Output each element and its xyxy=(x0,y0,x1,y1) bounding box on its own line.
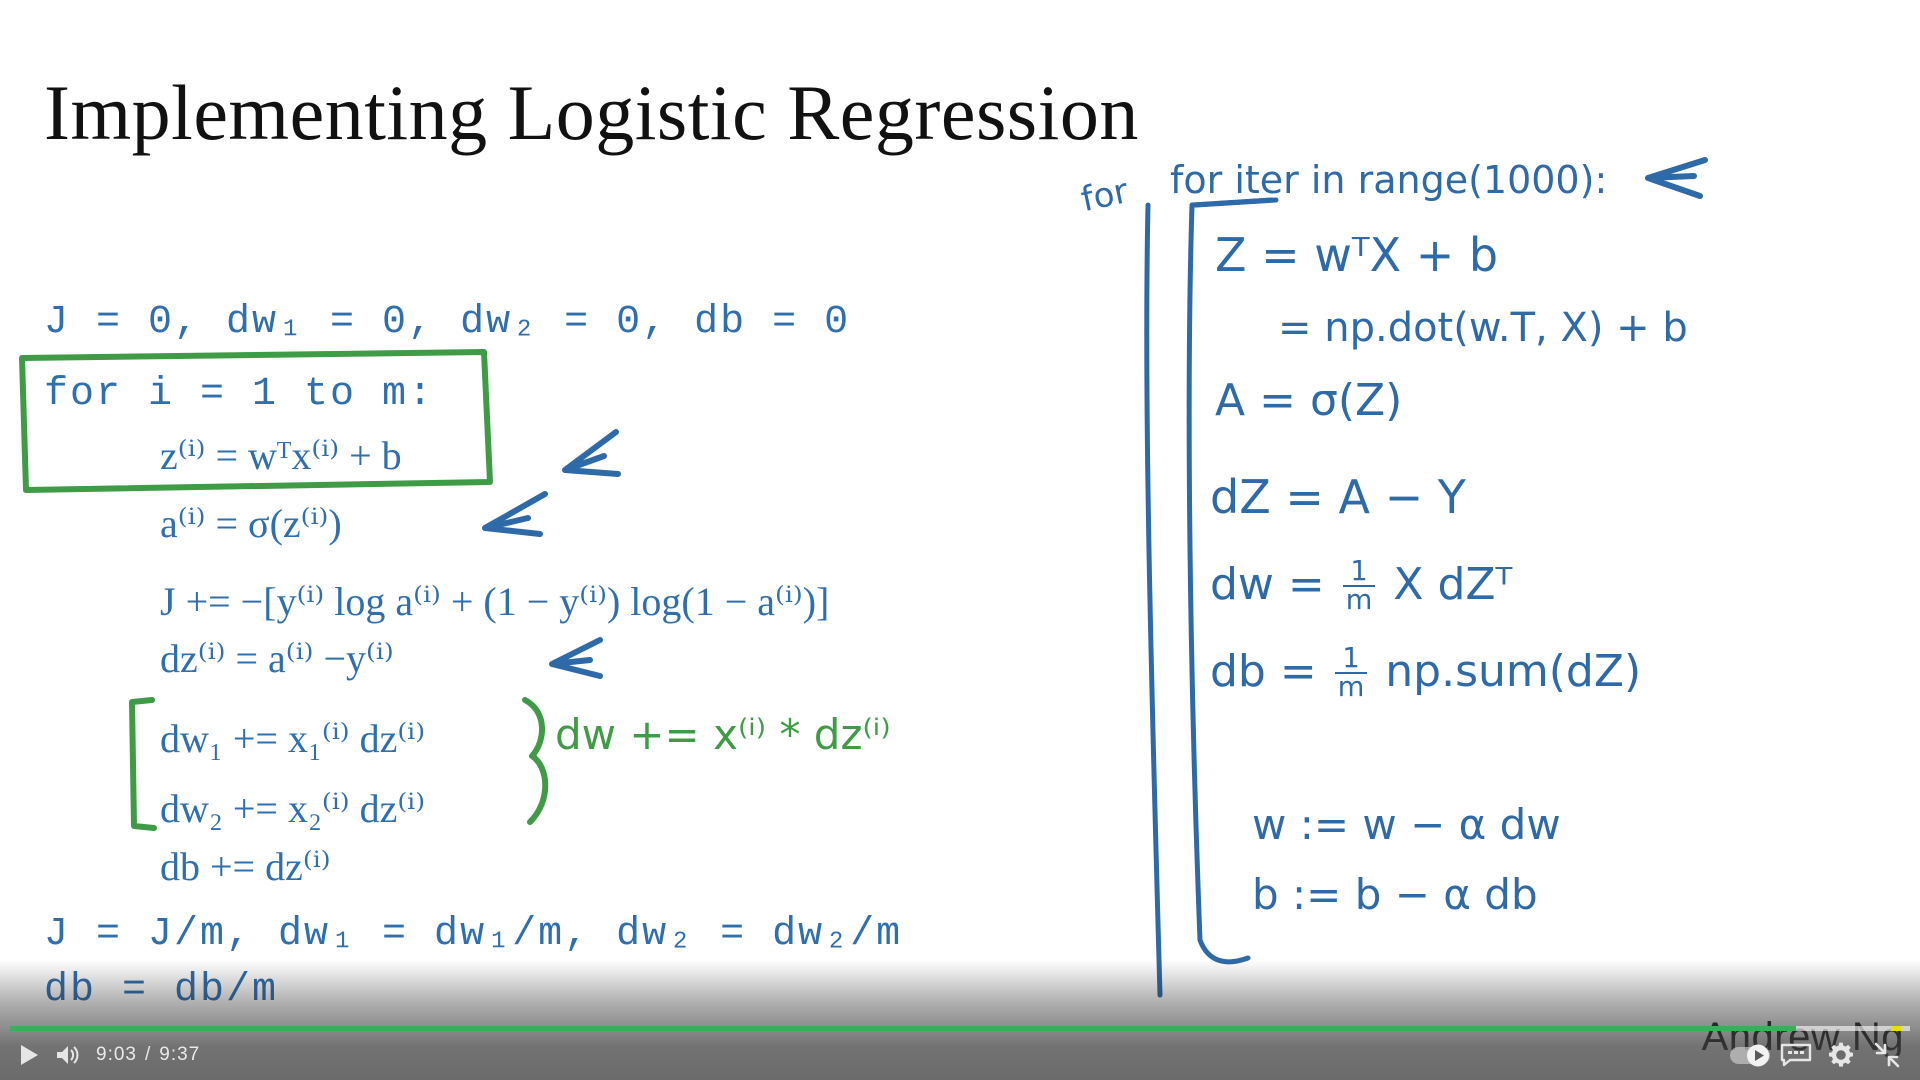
autoplay-button[interactable] xyxy=(1728,1038,1772,1072)
handwriting-db-equation: db = 1 m np.sum(dZ) xyxy=(1210,645,1641,702)
arrow-a-icon xyxy=(485,494,545,534)
code-line-z: z⁽ⁱ⁾ = wᵀx⁽ⁱ⁾ + b xyxy=(160,432,402,479)
progress-bar-track[interactable] xyxy=(10,1026,1910,1031)
fullscreen-button[interactable] xyxy=(1868,1038,1906,1072)
captions-button[interactable] xyxy=(1776,1038,1816,1072)
code-line-dw2: dw₂ += x₂⁽ⁱ⁾ dz⁽ⁱ⁾ xyxy=(160,785,425,832)
progress-bar-chapter-marker[interactable] xyxy=(1891,1026,1901,1031)
time-separator: / xyxy=(145,1044,151,1066)
progress-bar-played xyxy=(10,1026,1796,1031)
handwriting-dZ-equation: dZ = A − Y xyxy=(1210,470,1466,524)
arrow-z-icon xyxy=(565,432,618,474)
handwriting-np-dot: = np.dot(w.T, X) + b xyxy=(1278,305,1688,351)
code-line-dz: dz⁽ⁱ⁾ = a⁽ⁱ⁾ −y⁽ⁱ⁾ xyxy=(160,635,394,682)
handwriting-dw-denominator: m xyxy=(1343,587,1376,614)
time-display: 9:03 / 9:37 xyxy=(96,1038,200,1072)
annotation-dw-vectorized: dw += x⁽ⁱ⁾ * dz⁽ⁱ⁾ xyxy=(555,710,891,759)
handwriting-for-word: for xyxy=(1078,171,1132,220)
arrow-for-iter-icon xyxy=(1648,160,1705,196)
handwriting-db-numerator: 1 xyxy=(1335,645,1368,674)
handwriting-b-update: b := b − α db xyxy=(1252,870,1538,919)
volume-icon xyxy=(56,1044,82,1066)
total-time: 9:37 xyxy=(159,1044,200,1066)
handwriting-A-equation: A = σ(Z) xyxy=(1215,375,1402,426)
gear-icon xyxy=(1828,1042,1854,1068)
handwriting-db-rhs: np.sum(dZ) xyxy=(1385,646,1641,697)
column-divider-line xyxy=(1147,205,1160,995)
settings-button[interactable] xyxy=(1822,1038,1860,1072)
handwriting-dw-equation: dw = 1 m X dZᵀ xyxy=(1210,558,1512,615)
handwriting-dw-lhs: dw = xyxy=(1210,559,1325,610)
code-line-dw1: dw₁ += x₁⁽ⁱ⁾ dz⁽ⁱ⁾ xyxy=(160,715,425,762)
handwriting-db-fraction: 1 m xyxy=(1335,645,1368,702)
handwriting-db-lhs: db = xyxy=(1210,646,1317,697)
autoplay-icon xyxy=(1729,1042,1771,1068)
arrow-dz-icon xyxy=(552,640,600,676)
green-left-bracket xyxy=(132,700,154,828)
handwriting-db-denominator: m xyxy=(1335,674,1368,701)
play-icon xyxy=(19,1044,39,1066)
handwriting-dw-fraction: 1 m xyxy=(1343,558,1376,615)
current-time: 9:03 xyxy=(96,1044,137,1066)
page-title: Implementing Logistic Regression xyxy=(44,72,1139,154)
green-right-brace xyxy=(525,700,545,822)
code-line-init: J = 0, dw₁ = 0, dw₂ = 0, db = 0 xyxy=(44,300,850,345)
code-line-cost: J += −[y⁽ⁱ⁾ log a⁽ⁱ⁾ + (1 − y⁽ⁱ⁾) log(1 … xyxy=(160,578,829,625)
handwriting-dw-rhs: X dZᵀ xyxy=(1393,559,1512,610)
handwriting-dw-numerator: 1 xyxy=(1343,558,1376,587)
handwriting-for-iter: for iter in range(1000): xyxy=(1170,158,1607,202)
video-player-controls[interactable]: 9:03 / 9:37 xyxy=(0,1022,1920,1080)
code-line-for: for i = 1 to m: xyxy=(44,372,434,417)
code-line-averages: J = J/m, dw₁ = dw₁/m, dw₂ = dw₂/m xyxy=(44,912,902,957)
handwriting-w-update: w := w − α dw xyxy=(1252,800,1561,849)
code-line-a: a⁽ⁱ⁾ = σ(z⁽ⁱ⁾) xyxy=(160,500,342,547)
slide-canvas: Implementing Logistic Regression J = 0, … xyxy=(0,0,1920,1080)
handwriting-z-equation: Z = wᵀX + b xyxy=(1215,228,1498,282)
volume-button[interactable] xyxy=(50,1038,88,1072)
captions-icon xyxy=(1780,1043,1812,1067)
code-line-db: db += dz⁽ⁱ⁾ xyxy=(160,843,331,890)
fullscreen-exit-icon xyxy=(1874,1042,1900,1068)
play-button[interactable] xyxy=(10,1038,48,1072)
